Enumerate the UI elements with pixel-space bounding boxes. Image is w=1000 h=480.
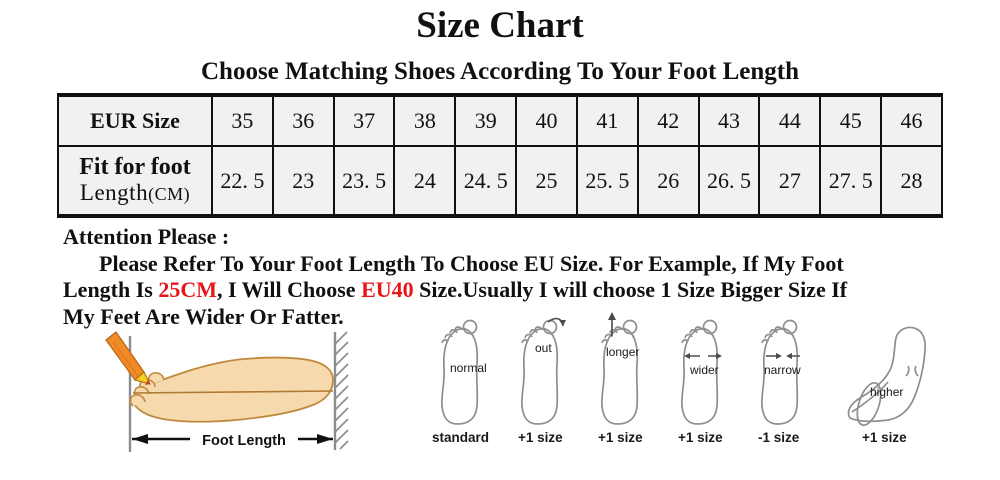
row-header-eur-size: EUR Size [58,95,212,146]
row-header-line2: Length(CM) [59,181,211,206]
cell-foot-length: 24 [394,146,455,216]
size-table: EUR Size 35 36 37 38 39 40 41 42 43 44 4… [57,93,943,218]
foot-icon-out [522,319,566,424]
foot-icon-label-normal: normal [450,361,487,375]
cell-foot-length: 25. 5 [577,146,638,216]
cell-foot-length: 26 [638,146,699,216]
cell-eur-size: 44 [759,95,820,146]
cell-eur-size: 41 [577,95,638,146]
cell-eur-size: 35 [212,95,273,146]
attention-heading: Attention Please : [63,224,943,251]
cell-foot-length: 23. 5 [334,146,395,216]
page-title: Size Chart [0,4,1000,48]
foot-shape [134,358,333,422]
attention-eu-size-value: EU40 [361,277,414,302]
attention-line-3-a: Length Is [63,277,158,302]
cell-eur-size: 39 [455,95,516,146]
attention-line-3: Length Is 25CM, I Will Choose EU40 Size.… [63,277,943,304]
foot-measuring-diagram: Foot Length [104,330,364,458]
row-header-foot-length: Fit for foot Length(CM) [58,146,212,216]
foot-icon-label-higher: higher [870,385,903,399]
foot-caption-longer: +1 size [598,430,643,445]
row-header-line1: Fit for foot [59,155,211,181]
foot-icon-label-wider: wider [689,363,719,377]
foot-icon-higher [848,327,925,428]
cell-eur-size: 45 [820,95,881,146]
foot-length-label: Foot Length [202,433,286,449]
foot-measure-illustration: Foot Length [104,330,364,458]
cell-foot-length: 24. 5 [455,146,516,216]
cell-foot-length: 23 [273,146,334,216]
foot-caption-wider: +1 size [678,430,723,445]
cell-eur-size: 37 [334,95,395,146]
foot-caption-higher: +1 size [862,430,907,445]
foot-icon-label-narrow: narrow [764,363,801,377]
cell-foot-length: 22. 5 [212,146,273,216]
foot-type-icons: normal out longer wider narrow higher st… [432,308,942,458]
cell-eur-size: 36 [273,95,334,146]
cell-eur-size: 46 [881,95,942,146]
cell-eur-size: 38 [394,95,455,146]
foot-icon-longer [602,312,637,424]
attention-line-2: Please Refer To Your Foot Length To Choo… [63,251,943,278]
page-subtitle: Choose Matching Shoes According To Your … [0,57,1000,87]
cell-foot-length: 27 [759,146,820,216]
table-row-foot-length: Fit for foot Length(CM) 22. 5 23 23. 5 2… [58,146,942,216]
cell-foot-length: 28 [881,146,942,216]
size-chart-page: Size Chart Choose Matching Shoes Accordi… [0,0,1000,480]
cell-eur-size: 40 [516,95,577,146]
row-header-length-word: Length [80,180,148,205]
cell-foot-length: 27. 5 [820,146,881,216]
pencil-icon [106,332,150,385]
wall-hatching-icon [335,332,348,449]
cell-eur-size: 42 [638,95,699,146]
attention-line-3-c: Size.Usually I will choose 1 Size Bigger… [414,277,847,302]
cell-eur-size: 43 [699,95,760,146]
foot-caption-out: +1 size [518,430,563,445]
cell-foot-length: 25 [516,146,577,216]
foot-icon-label-longer: longer [606,345,639,359]
foot-icon-label-out: out [535,341,552,355]
table-row-eur-size: EUR Size 35 36 37 38 39 40 41 42 43 44 4… [58,95,942,146]
attention-foot-length-value: 25CM [158,277,217,302]
foot-caption-narrow: -1 size [758,430,799,445]
attention-line-3-b: , I Will Choose [217,277,361,302]
row-header-unit: (CM) [148,184,190,204]
foot-caption-standard: standard [432,430,489,445]
cell-foot-length: 26. 5 [699,146,760,216]
attention-line-2-text: Please Refer To Your Foot Length To Choo… [99,251,844,276]
